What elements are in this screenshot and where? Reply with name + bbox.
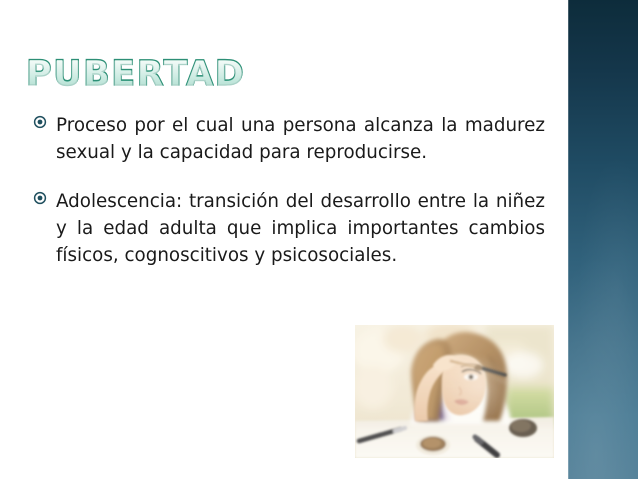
- slide-title-container: PUBERTAD: [26, 52, 245, 100]
- girl-applying-mascara-photo: [355, 325, 554, 458]
- bullet-item-text: Adolescencia: transición del desarrollo …: [56, 188, 545, 269]
- slide-title: PUBERTAD: [26, 52, 245, 96]
- sidebar-highlight-edge: [568, 0, 569, 479]
- bullet-item-text: Proceso por el cual una persona alcanza …: [56, 112, 545, 166]
- ringed-circle-bullet-icon: [33, 115, 47, 129]
- bullet-list-item: Adolescencia: transición del desarrollo …: [33, 188, 545, 269]
- slide-canvas: PUBERTAD Proceso por el cual una persona…: [0, 0, 638, 479]
- bullet-list-item: Proceso por el cual una persona alcanza …: [33, 112, 545, 166]
- ringed-circle-bullet-icon: [33, 191, 47, 205]
- slide-body-content: Proceso por el cual una persona alcanza …: [33, 112, 545, 269]
- sidebar-sheen-overlay: [568, 0, 638, 479]
- sidebar-decoration: [568, 0, 638, 479]
